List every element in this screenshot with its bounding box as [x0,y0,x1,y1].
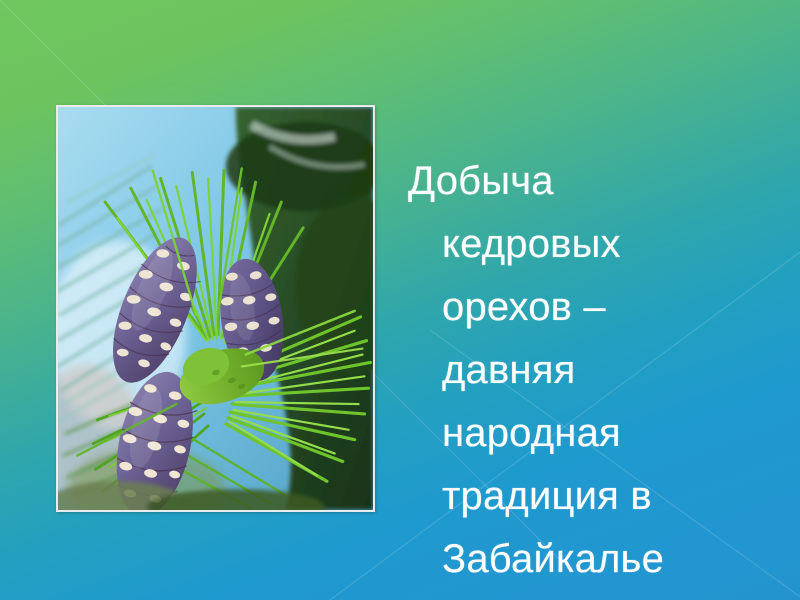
caption-line-7: Забайкалье [408,528,788,591]
caption-line-5: народная [408,402,788,465]
slide-caption: Добыча кедровых орехов – давняя народная… [408,150,788,591]
cedar-cones-photo [56,105,375,512]
slide-canvas: Добыча кедровых орехов – давняя народная… [0,0,800,600]
caption-line-2: кедровых [408,213,788,276]
caption-line-1: Добыча [408,150,788,213]
caption-line-4: давняя [408,339,788,402]
caption-line-3: орехов – [408,276,788,339]
caption-line-6: традиция в [408,465,788,528]
